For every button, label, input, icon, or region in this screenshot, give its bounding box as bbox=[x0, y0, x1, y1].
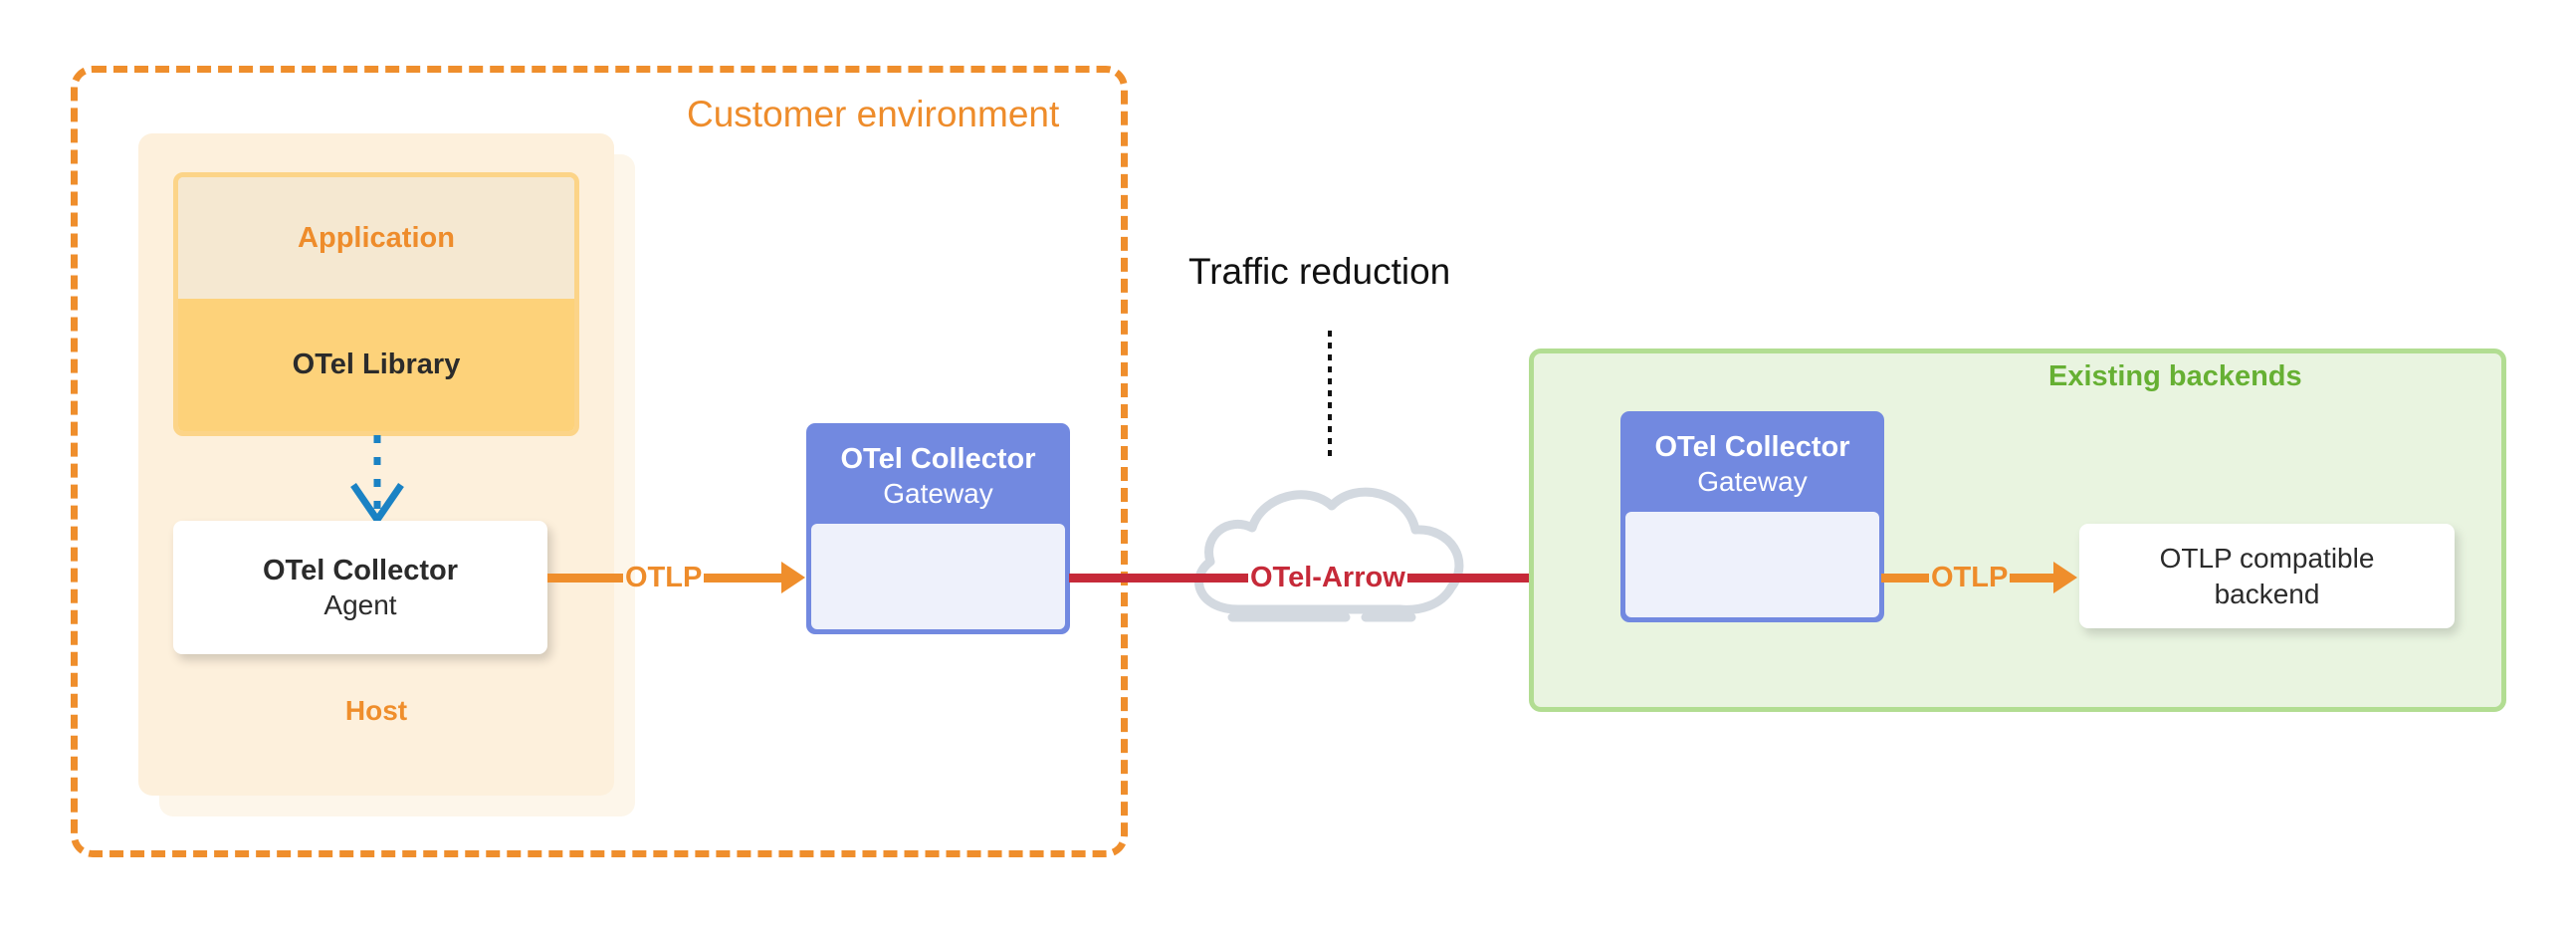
flow-line-left bbox=[547, 574, 623, 582]
application-library-box: Application OTel Library bbox=[173, 172, 579, 436]
gateway-right-header: OTel Collector Gateway bbox=[1625, 416, 1879, 512]
gateway-left-body bbox=[811, 524, 1065, 629]
diagram-canvas: Customer environment Application OTel Li… bbox=[0, 0, 2576, 932]
flow-label-otel-arrow: OTel-Arrow bbox=[1248, 562, 1407, 594]
flow-gateway-to-backend: OTLP bbox=[1881, 548, 2077, 607]
otel-library-box: OTel Library bbox=[178, 299, 574, 431]
otel-collector-gateway-right[interactable]: OTel Collector Gateway bbox=[1620, 411, 1884, 622]
application-box: Application bbox=[178, 177, 574, 299]
flow-line-right bbox=[2010, 574, 2053, 582]
existing-backends-label: Existing backends bbox=[2048, 360, 2302, 393]
backend-line-2: backend bbox=[2215, 577, 2320, 612]
agent-title: OTel Collector bbox=[263, 554, 458, 588]
gateway-left-subtitle: Gateway bbox=[883, 477, 993, 511]
flow-agent-to-gateway: OTLP bbox=[547, 548, 805, 607]
backend-line-1: OTLP compatible bbox=[2160, 541, 2375, 577]
gateway-right-subtitle: Gateway bbox=[1697, 465, 1808, 499]
flow-label-otlp-1: OTLP bbox=[623, 562, 704, 594]
gateway-right-title: OTel Collector bbox=[1654, 430, 1849, 465]
otel-collector-agent-card[interactable]: OTel Collector Agent bbox=[173, 521, 547, 654]
gateway-left-title: OTel Collector bbox=[840, 442, 1035, 477]
flow-label-otlp-2: OTLP bbox=[1929, 562, 2010, 594]
flow-line-left bbox=[1069, 574, 1248, 582]
arrow-head-icon bbox=[781, 562, 805, 593]
agent-subtitle: Agent bbox=[323, 588, 396, 622]
gateway-left-header: OTel Collector Gateway bbox=[811, 428, 1065, 524]
flow-line-left bbox=[1881, 574, 1929, 582]
gateway-right-body bbox=[1625, 512, 1879, 617]
otel-library-label: OTel Library bbox=[293, 349, 461, 381]
dashed-down-arrow-icon bbox=[327, 435, 427, 535]
flow-line-right bbox=[704, 574, 781, 582]
host-label: Host bbox=[138, 695, 614, 727]
otlp-compatible-backend-card[interactable]: OTLP compatible backend bbox=[2079, 524, 2455, 628]
otel-collector-gateway-left[interactable]: OTel Collector Gateway bbox=[806, 423, 1070, 634]
traffic-reduction-label: Traffic reduction bbox=[1188, 251, 1450, 293]
customer-environment-label: Customer environment bbox=[687, 94, 1059, 135]
arrow-head-icon bbox=[2053, 562, 2077, 593]
traffic-reduction-leader-line bbox=[1328, 331, 1332, 462]
flow-gateway-to-gateway: OTel-Arrow bbox=[1069, 548, 1589, 607]
application-label: Application bbox=[298, 222, 455, 255]
